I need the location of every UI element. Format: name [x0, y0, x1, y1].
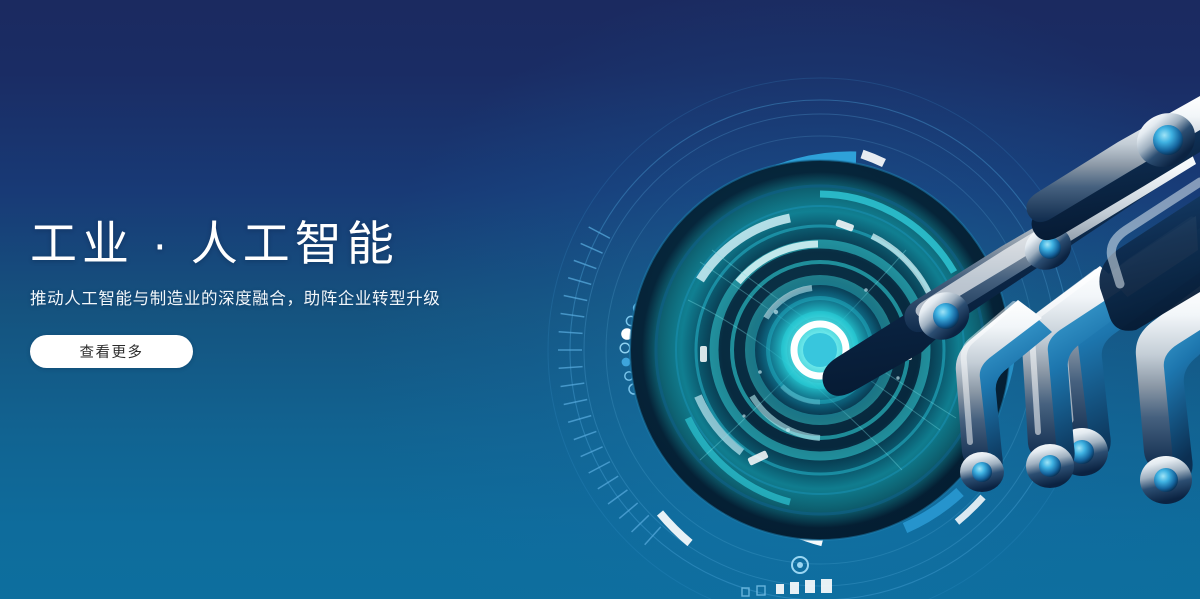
page-title: 工业 · 人工智能 [30, 216, 550, 271]
view-more-button[interactable]: 查看更多 [30, 335, 193, 368]
hero-subtitle: 推动人工智能与制造业的深度融合，助阵企业转型升级 [30, 285, 550, 309]
hero-banner: 工业 · 人工智能 推动人工智能与制造业的深度融合，助阵企业转型升级 查看更多 [0, 0, 1200, 599]
hero-copy: 工业 · 人工智能 推动人工智能与制造业的深度融合，助阵企业转型升级 查看更多 [30, 216, 550, 368]
